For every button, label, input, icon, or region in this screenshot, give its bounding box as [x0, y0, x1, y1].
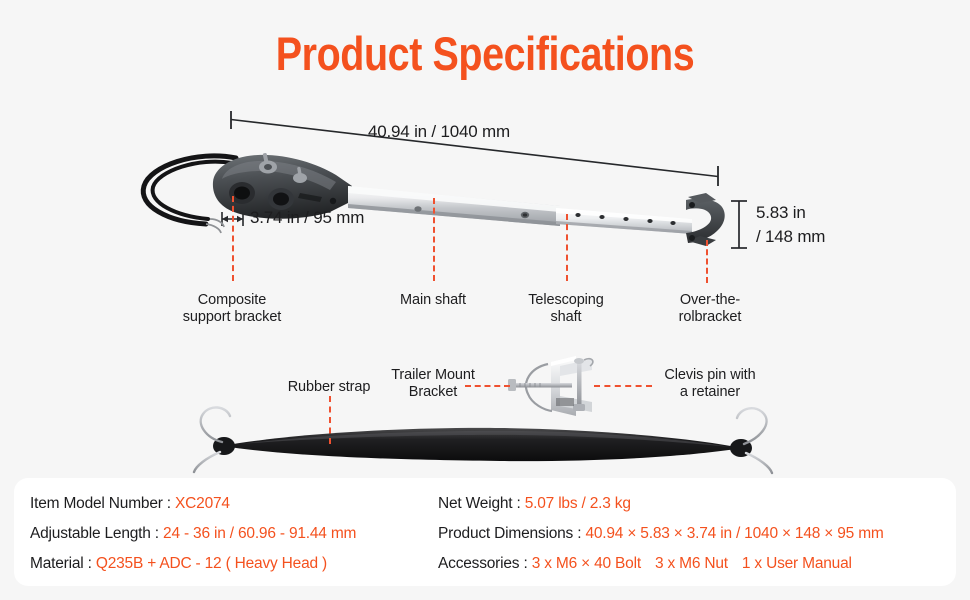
dimension-bracket-height-line1: 5.83 in: [756, 203, 806, 223]
infographic-root: Product Specifications: [0, 0, 970, 600]
accessory-nut: 3 x M6 Nut: [655, 555, 728, 572]
spec-value: Q235B + ADC - 12 ( Heavy Head ): [96, 555, 327, 572]
label-line1: Clevis pin with: [565, 367, 855, 384]
spec-separator: :: [512, 495, 524, 512]
spec-label: Material: [30, 555, 84, 572]
spec-label: Net Weight: [438, 495, 512, 512]
spec-value: 24 - 36 in / 60.96 - 91.44 mm: [163, 525, 356, 542]
spec-separator: :: [151, 525, 163, 542]
leader-rubber-strap: [329, 396, 331, 444]
spec-value: 40.94 × 5.83 × 3.74 in / 1040 × 148 × 95…: [585, 525, 883, 542]
label-trailer-mount-bracket: Trailer Mount Bracket: [343, 367, 523, 401]
label-composite-support-bracket: Composite support bracket: [132, 292, 332, 326]
label-line2: rolbracket: [620, 309, 800, 326]
spec-separator: :: [84, 555, 96, 572]
label-line1: Composite: [132, 292, 332, 309]
spec-value: 5.07 lbs / 2.3 kg: [525, 495, 631, 512]
spec-product-dimensions: Product Dimensions : 40.94 × 5.83 × 3.74…: [438, 525, 884, 543]
spec-label: Item Model Number: [30, 495, 163, 512]
dimension-overall-length: 40.94 in / 1040 mm: [368, 122, 510, 142]
leader-main-shaft: [433, 198, 435, 281]
label-line1: Over-the-: [620, 292, 800, 309]
spec-net-weight: Net Weight : 5.07 lbs / 2.3 kg: [438, 495, 631, 513]
spec-label: Adjustable Length: [30, 525, 151, 542]
label-line1: Trailer Mount: [343, 367, 523, 384]
spec-adjustable-length: Adjustable Length : 24 - 36 in / 60.96 -…: [30, 525, 356, 543]
label-clevis-pin: Clevis pin with a retainer: [565, 367, 855, 401]
spec-label: Product Dimensions: [438, 525, 573, 542]
spec-separator: :: [163, 495, 175, 512]
spec-material: Material : Q235B + ADC - 12 ( Heavy Head…: [30, 555, 327, 573]
specifications-card: Item Model Number : XC2074 Adjustable Le…: [14, 478, 956, 586]
accessory-bolt: 3 x M6 × 40 Bolt: [532, 555, 641, 572]
dimension-bracket-height-line2: / 148 mm: [756, 227, 825, 247]
label-over-the-roll-bracket: Over-the- rolbracket: [620, 292, 800, 326]
leader-over-the-roll-bracket: [706, 240, 708, 283]
spec-value: XC2074: [175, 495, 230, 512]
accessory-manual: 1 x User Manual: [742, 555, 852, 572]
spec-accessories: Accessories : 3 x M6 × 40 Bolt3 x M6 Nut…: [438, 555, 866, 573]
dimension-head-width: 3.74 in / 95 mm: [250, 208, 364, 228]
leader-composite-support-bracket: [232, 196, 234, 281]
spec-separator: :: [519, 555, 531, 572]
spec-separator: :: [573, 525, 585, 542]
label-line2: Bracket: [343, 384, 523, 401]
label-line2: a retainer: [565, 384, 855, 401]
spec-label: Accessories: [438, 555, 519, 572]
label-line2: support bracket: [132, 309, 332, 326]
leader-telescoping-shaft: [566, 214, 568, 281]
spec-item-model-number: Item Model Number : XC2074: [30, 495, 230, 513]
page-title: Product Specifications: [78, 26, 893, 81]
